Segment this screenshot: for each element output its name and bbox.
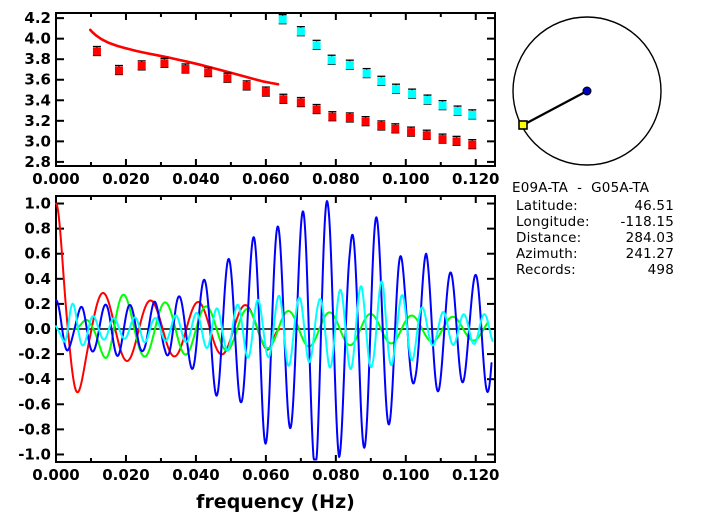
y-tick-label: 0.2 <box>24 295 51 313</box>
data-marker <box>439 135 447 143</box>
x-tick-label: 0.120 <box>452 466 499 484</box>
data-marker <box>454 107 462 115</box>
data-marker <box>181 65 189 73</box>
info-row: Records:498 <box>516 262 698 278</box>
data-marker <box>313 41 321 49</box>
x-tick-label: 0.100 <box>382 170 429 188</box>
data-marker <box>297 99 305 107</box>
azimuth-ray <box>523 91 587 125</box>
data-marker <box>204 69 212 77</box>
data-marker <box>407 128 415 136</box>
x-axis-label: frequency (Hz) <box>196 491 355 513</box>
y-tick-label: -0.6 <box>18 395 51 413</box>
tick-marks <box>56 13 495 166</box>
info-row-value: 46.51 <box>602 198 674 214</box>
station-info-panel: E09A-TA - G05A-TA Latitude:46.51Longitud… <box>512 180 702 290</box>
data-marker <box>115 67 123 75</box>
info-row: Distance:284.03 <box>516 230 698 246</box>
info-row: Longitude:-118.15 <box>516 214 698 230</box>
info-row-label: Latitude: <box>516 198 602 214</box>
data-marker <box>328 113 336 121</box>
x-tick-label: 0.060 <box>242 170 289 188</box>
x-tick-label: 0.080 <box>312 170 359 188</box>
y-tick-label: -0.4 <box>18 370 51 388</box>
station-pair-title: E09A-TA - G05A-TA <box>512 180 649 196</box>
data-marker <box>243 82 251 90</box>
phase-velocity-cyan <box>279 15 477 119</box>
x-tick-label: 0.000 <box>32 466 79 484</box>
y-tick-label: 1.0 <box>24 195 51 213</box>
x-tick-label: 0.080 <box>312 466 359 484</box>
info-row-label: Distance: <box>516 230 602 246</box>
center-station-dot <box>583 87 591 95</box>
x-tick-label: 0.120 <box>452 170 499 188</box>
y-tick-label: 3.2 <box>24 112 51 130</box>
data-marker <box>93 48 101 56</box>
data-marker <box>138 62 146 70</box>
data-marker <box>391 125 399 133</box>
y-tick-label: -0.2 <box>18 345 51 363</box>
azimuth-diagram <box>502 0 702 180</box>
x-tick-label: 0.020 <box>102 170 149 188</box>
data-marker <box>362 118 370 126</box>
data-marker <box>346 61 354 69</box>
info-row-label: Azimuth: <box>516 246 602 262</box>
broad-band-cyan <box>56 281 493 369</box>
data-marker <box>377 77 385 85</box>
info-row-value: 498 <box>602 262 674 278</box>
info-row-value: -118.15 <box>602 214 674 230</box>
group-velocity-red <box>93 47 476 149</box>
data-marker <box>423 131 431 139</box>
info-row: Azimuth:241.27 <box>516 246 698 262</box>
data-marker <box>279 95 287 103</box>
x-tick-label: 0.100 <box>382 466 429 484</box>
data-marker <box>453 137 461 145</box>
x-tick-label: 0.040 <box>172 170 219 188</box>
data-marker <box>363 70 371 78</box>
data-marker <box>346 114 354 122</box>
remote-station-marker <box>519 121 527 129</box>
data-marker <box>468 111 476 119</box>
data-marker <box>377 122 385 130</box>
info-row-label: Records: <box>516 262 602 278</box>
y-tick-label: -0.8 <box>18 420 51 438</box>
reference-curve <box>90 30 278 84</box>
y-tick-label: 3.0 <box>24 132 51 150</box>
data-marker <box>297 28 305 36</box>
data-marker <box>408 90 416 98</box>
info-row-value: 284.03 <box>602 230 674 246</box>
y-tick-label: -1.0 <box>18 445 51 463</box>
data-marker <box>313 106 321 114</box>
plot-frame <box>56 13 495 166</box>
y-tick-label: 4.0 <box>24 30 51 48</box>
y-tick-label: 0.0 <box>24 320 51 338</box>
x-tick-label: 0.060 <box>242 466 289 484</box>
x-tick-label: 0.000 <box>32 170 79 188</box>
data-marker <box>223 74 231 82</box>
x-tick-label: 0.040 <box>172 466 219 484</box>
data-marker <box>160 59 168 67</box>
y-tick-label: 3.4 <box>24 91 51 109</box>
y-tick-label: 3.6 <box>24 71 51 89</box>
y-tick-label: 0.6 <box>24 245 51 263</box>
data-marker <box>468 141 476 149</box>
info-row-value: 241.27 <box>602 246 674 262</box>
data-marker <box>392 85 400 93</box>
x-tick-label: 0.020 <box>102 466 149 484</box>
info-row-label: Longitude: <box>516 214 602 230</box>
info-row: Latitude:46.51 <box>516 198 698 214</box>
data-marker <box>262 88 270 96</box>
y-tick-label: 3.8 <box>24 50 51 68</box>
data-marker <box>279 16 287 24</box>
y-tick-label: 4.2 <box>24 9 51 27</box>
y-tick-label: 2.8 <box>24 153 51 171</box>
data-marker <box>439 102 447 110</box>
data-marker <box>328 56 336 64</box>
y-tick-label: 0.4 <box>24 270 51 288</box>
figure-canvas: 0.0000.0200.0400.0600.0800.1000.1202.83.… <box>0 0 702 519</box>
y-tick-label: 0.8 <box>24 220 51 238</box>
data-marker <box>423 96 431 104</box>
